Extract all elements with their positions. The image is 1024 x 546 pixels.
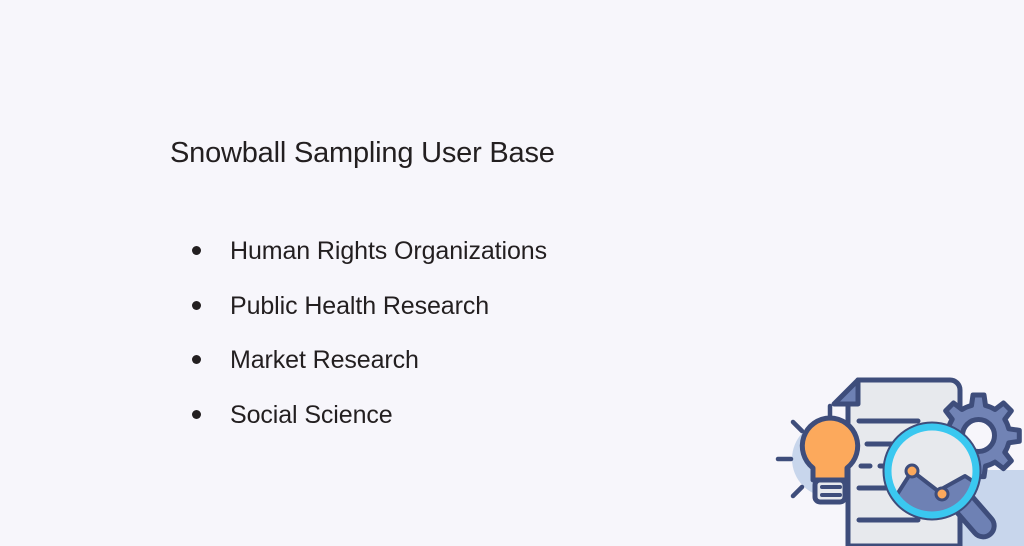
bullet-dot-icon [192,410,201,419]
bullet-dot-icon [192,355,201,364]
document-fold-icon [834,380,858,404]
list-item-label: Market Research [230,346,419,374]
chart-point-icon [906,465,918,477]
list-item: Market Research [192,344,792,377]
bullet-dot-icon [192,246,201,255]
user-base-list: Human Rights Organizations Public Health… [192,235,792,431]
list-item: Public Health Research [192,290,792,323]
list-item: Social Science [192,399,792,432]
list-item-label: Human Rights Organizations [230,237,547,265]
lightbulb-base-icon [815,480,845,502]
list-item: Human Rights Organizations [192,235,792,268]
slide-canvas: Snowball Sampling User Base Human Rights… [0,0,1024,546]
content-block: Snowball Sampling User Base Human Rights… [170,135,790,171]
list-item-label: Social Science [230,401,393,429]
bullet-dot-icon [192,301,201,310]
chart-point-icon [936,488,948,500]
page-title: Snowball Sampling User Base [170,135,790,171]
research-analysis-illustration [760,354,1024,546]
list-item-label: Public Health Research [230,292,489,320]
